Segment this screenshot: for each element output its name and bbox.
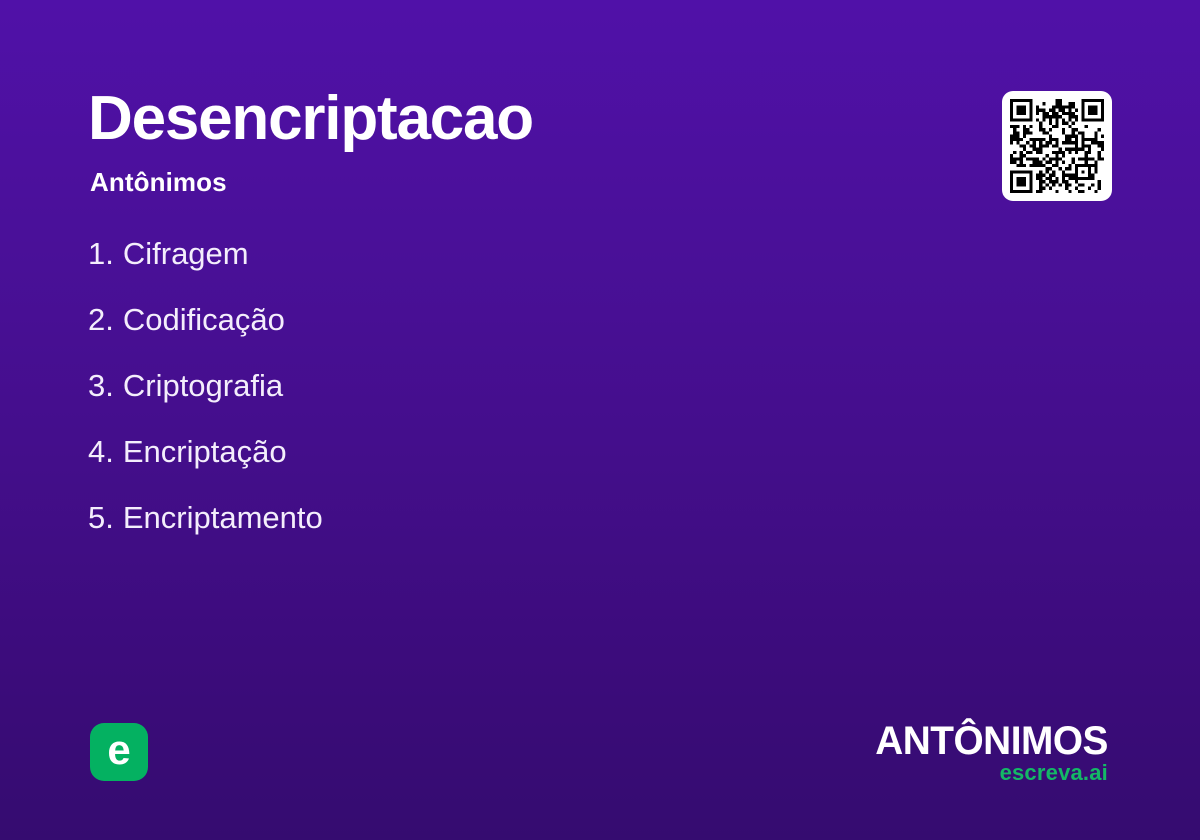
list-item: 5. Encriptamento [88, 498, 323, 564]
list-item-label: Cifragem [123, 234, 249, 274]
list-item-label: Encriptamento [123, 498, 323, 538]
list-item: 1. Cifragem [88, 234, 323, 300]
escreva-logo-mark: e [90, 723, 148, 781]
list-item-index: 4. [88, 432, 114, 472]
list-item-index: 3. [88, 366, 114, 406]
brand-domain: escreva.ai [868, 762, 1108, 784]
qr-code-icon[interactable] [1010, 99, 1104, 193]
brand-word: ANTÔNIMOS [875, 722, 1108, 760]
qr-code-panel[interactable] [1002, 91, 1112, 201]
antonyms-card: Desencriptacao Antônimos 1. Cifragem 2. … [0, 0, 1200, 840]
list-item-index: 2. [88, 300, 114, 340]
list-item: 3. Criptografia [88, 366, 323, 432]
list-item-label: Criptografia [123, 366, 283, 406]
brand-lockup: ANTÔNIMOS escreva.ai [868, 722, 1108, 784]
list-item-label: Encriptação [123, 432, 287, 472]
brand-mark-letter: e [107, 729, 130, 771]
antonym-list: 1. Cifragem 2. Codificação 3. Criptograf… [88, 234, 323, 564]
list-item-index: 1. [88, 234, 114, 274]
list-item-index: 5. [88, 498, 114, 538]
list-item: 4. Encriptação [88, 432, 323, 498]
page-subtitle: Antônimos [90, 168, 227, 197]
list-item: 2. Codificação [88, 300, 323, 366]
page-title: Desencriptacao [88, 86, 533, 152]
list-item-label: Codificação [123, 300, 285, 340]
